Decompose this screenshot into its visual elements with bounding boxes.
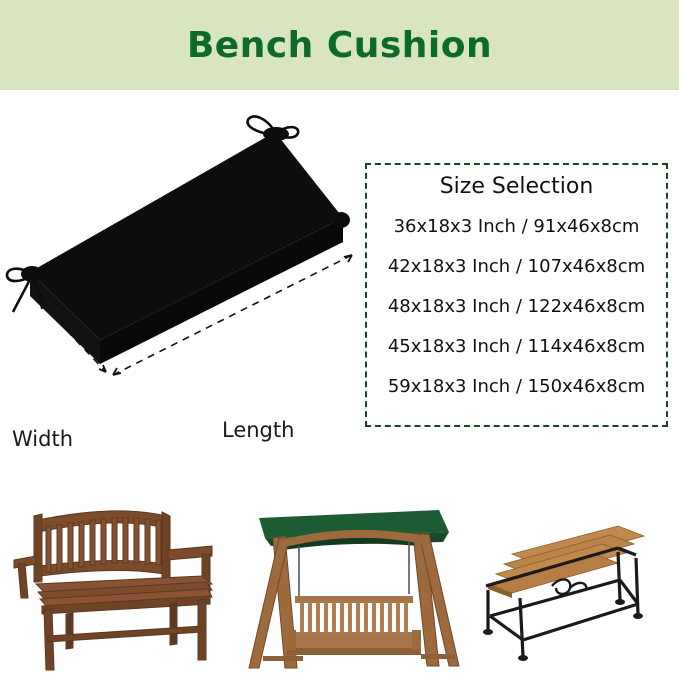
cushion-illustration xyxy=(0,90,360,410)
photo-garden-bench xyxy=(6,480,234,673)
length-label: Length xyxy=(222,418,294,442)
size-option[interactable]: 48x18x3 Inch / 122x46x8cm xyxy=(367,287,666,327)
header-band: Bench Cushion xyxy=(0,0,679,90)
size-option[interactable]: 36x18x3 Inch / 91x46x8cm xyxy=(367,207,666,247)
size-selection-title: Size Selection xyxy=(440,174,594,199)
cushion-corner-right xyxy=(332,212,350,228)
photo-porch-swing xyxy=(243,480,463,673)
width-label: Width xyxy=(12,427,73,451)
cushion-diagram: Width Length xyxy=(0,90,360,410)
porch-swing-illustration xyxy=(243,480,463,673)
size-option-list: 36x18x3 Inch / 91x46x8cm 42x18x3 Inch / … xyxy=(367,207,666,407)
size-selection-panel: Size Selection 36x18x3 Inch / 91x46x8cm … xyxy=(365,163,668,427)
page-title: Bench Cushion xyxy=(187,25,492,66)
infographic-page: Bench Cushion xyxy=(0,0,679,673)
swing-chain xyxy=(299,542,409,596)
photo-backless-bench xyxy=(468,480,673,673)
size-option[interactable]: 45x18x3 Inch / 114x46x8cm xyxy=(367,327,666,367)
backless-bench-illustration xyxy=(468,480,673,673)
size-option[interactable]: 59x18x3 Inch / 150x46x8cm xyxy=(367,367,666,407)
length-arrowhead-start xyxy=(113,368,121,375)
size-option[interactable]: 42x18x3 Inch / 107x46x8cm xyxy=(367,247,666,287)
garden-bench-illustration xyxy=(6,480,234,673)
product-photo-row xyxy=(0,480,679,673)
length-arrowhead-end xyxy=(344,255,352,262)
